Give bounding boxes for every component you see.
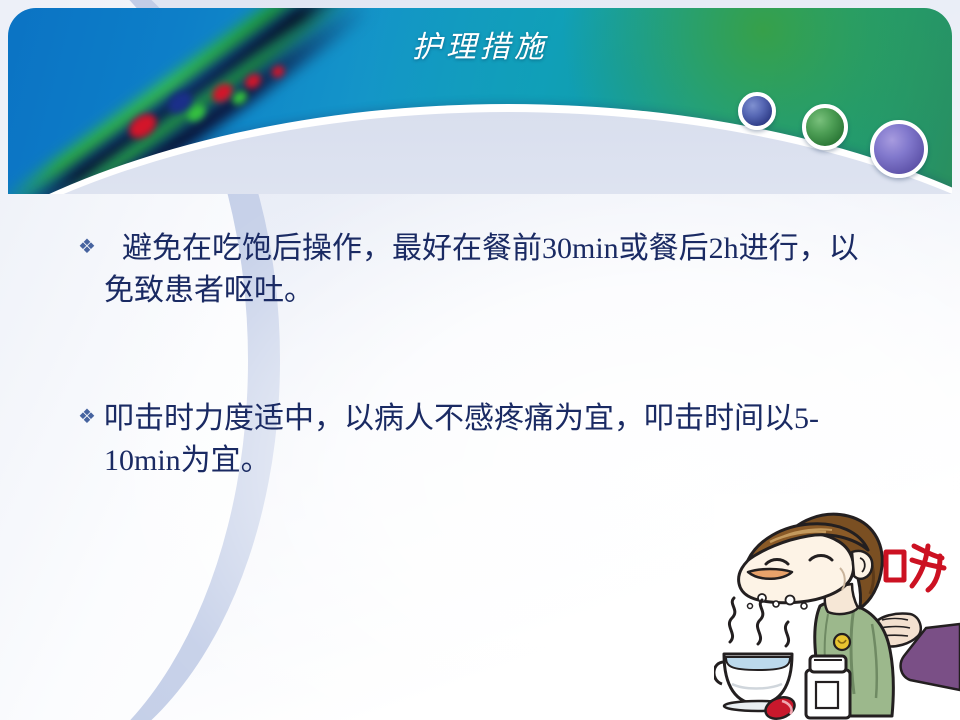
slide-title: 护理措施 [0, 22, 960, 66]
bullet-text: 避免在吃饱后操作，最好在餐前30min或餐后2h进行，以免致患者呕吐。 [104, 228, 888, 312]
slide-body: ❖ 避免在吃饱后操作，最好在餐前30min或餐后2h进行，以免致患者呕吐。 ❖ … [78, 228, 888, 482]
illustration-image [714, 494, 960, 720]
green-sphere-icon [802, 104, 848, 150]
bullet-item: ❖ 避免在吃饱后操作，最好在餐前30min或餐后2h进行，以免致患者呕吐。 [78, 228, 888, 312]
slide-canvas: 护理措施 ❖ 避免在吃饱后操作，最好在餐前30min或餐后2h进行，以免致患者呕… [0, 0, 960, 720]
diamond-bullet-icon: ❖ [78, 237, 104, 257]
bullet-item: ❖ 叩击时力度适中，以病人不感疼痛为宜，叩击时间以5-10min为宜。 [78, 398, 888, 482]
purple-sphere-icon [870, 120, 928, 178]
blue-sphere-icon [738, 92, 776, 130]
bullet-text: 叩击时力度适中，以病人不感疼痛为宜，叩击时间以5-10min为宜。 [104, 398, 888, 482]
diamond-bullet-icon: ❖ [78, 407, 104, 427]
